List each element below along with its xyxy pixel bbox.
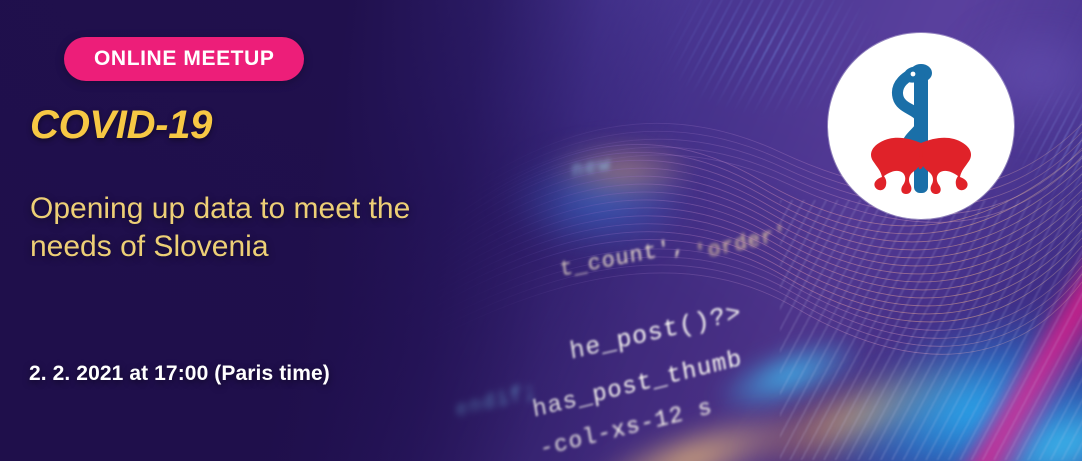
online-meetup-badge: ONLINE MEETUP (64, 37, 304, 81)
event-banner: new t_count', 'order' he_post()?> has_po… (0, 0, 1082, 461)
event-datetime: 2. 2. 2021 at 17:00 (Paris time) (29, 362, 330, 386)
subtitle: Opening up data to meet the needs of Slo… (30, 190, 500, 267)
rod-lower-segment (914, 169, 928, 193)
medical-chamber-emblem-icon (851, 51, 991, 201)
page-title: COVID-19 (30, 103, 212, 148)
organization-logo (828, 33, 1014, 219)
